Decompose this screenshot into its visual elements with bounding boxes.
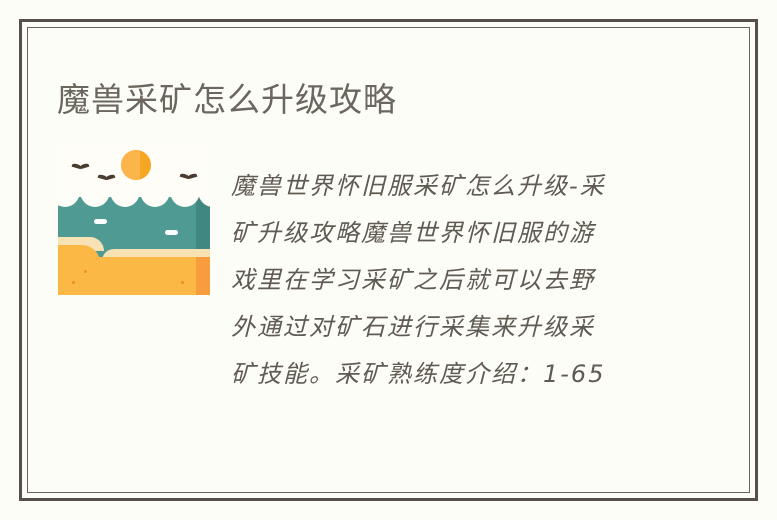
- illustration-canvas: [58, 145, 210, 295]
- wave-bump: [170, 191, 200, 207]
- article-body: 魔兽世界怀旧服采矿怎么升级-采 矿升级攻略魔兽世界怀旧服的游 戏里在学习采矿之后…: [231, 163, 651, 398]
- beach-illustration-thumbnail: [58, 145, 210, 295]
- body-line: 外通过对矿石进行采集来升级采: [231, 304, 651, 351]
- foam-dash: [165, 230, 178, 235]
- wave-crest-row: [58, 197, 210, 209]
- sand-grain: [84, 270, 87, 273]
- sand-beach: [58, 257, 210, 295]
- wave-bump: [140, 191, 170, 207]
- sand-shadow-strip: [196, 257, 210, 295]
- wave-bump: [80, 191, 110, 207]
- wave-bump: [110, 191, 140, 207]
- body-line: 矿升级攻略魔兽世界怀旧服的游: [231, 210, 651, 257]
- wave-bump: [198, 191, 210, 207]
- sand-grain: [181, 281, 184, 284]
- wave-bump: [58, 191, 80, 207]
- foam-dash: [94, 219, 107, 224]
- body-line: 矿技能。采矿熟练度介绍：1-65: [231, 351, 651, 398]
- body-line: 魔兽世界怀旧服采矿怎么升级-采: [231, 163, 651, 210]
- sand-grain: [72, 281, 75, 284]
- body-line: 戏里在学习采矿之后就可以去野: [231, 257, 651, 304]
- document-page: 魔兽采矿怎么升级攻略: [0, 0, 777, 520]
- sun-icon: [121, 150, 151, 180]
- page-title: 魔兽采矿怎么升级攻略: [57, 78, 397, 122]
